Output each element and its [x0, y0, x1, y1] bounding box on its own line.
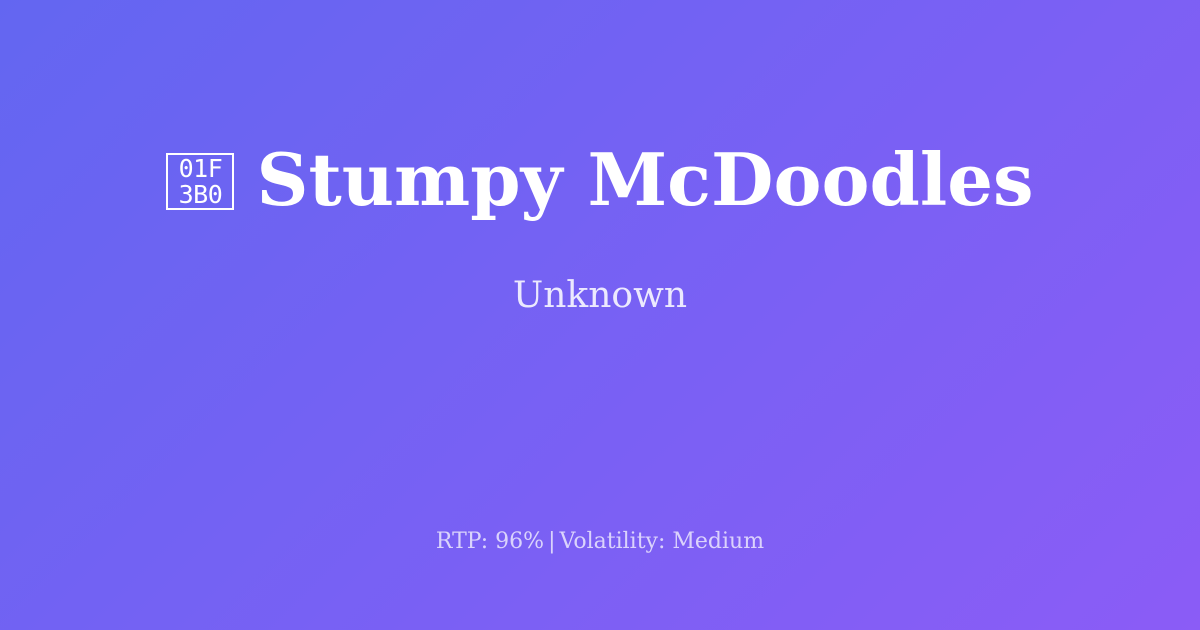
slot-machine-icon: 01F 3B0	[166, 153, 234, 210]
page-subtitle: Unknown	[513, 278, 687, 314]
title-row: 01F 3B0 Stumpy McDoodles	[166, 144, 1033, 216]
meta-separator: |	[544, 529, 559, 554]
hero-block: 01F 3B0 Stumpy McDoodles Unknown	[0, 0, 1200, 470]
rtp-value: RTP: 96%	[436, 529, 544, 554]
volatility-value: Volatility: Medium	[560, 529, 765, 554]
tofu-codepoint-bottom: 3B0	[179, 182, 223, 207]
og-card: 01F 3B0 Stumpy McDoodles Unknown RTP: 96…	[0, 0, 1200, 630]
page-title: Stumpy McDoodles	[256, 144, 1033, 216]
tofu-codepoint-top: 01F	[179, 156, 223, 181]
game-meta-line: RTP: 96%|Volatility: Medium	[0, 528, 1200, 556]
